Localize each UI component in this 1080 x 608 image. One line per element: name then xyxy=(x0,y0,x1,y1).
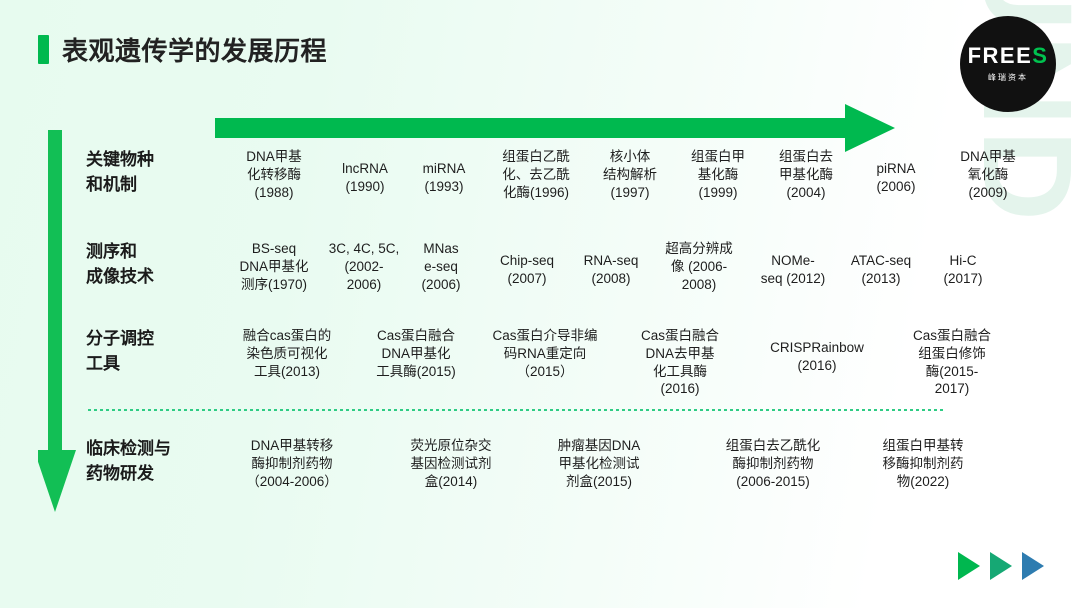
timeline-item: lncRNA (1990) xyxy=(326,148,404,196)
timeline-item: 组蛋白甲基转 移酶抑制剂药 物(2022) xyxy=(864,437,982,490)
row-cells: BS-seq DNA甲基化 测序(1970) 3C, 4C, 5C, (2002… xyxy=(226,240,1010,293)
frees-logo: FREES 峰瑞资本 xyxy=(960,16,1056,112)
timeline-item: 组蛋白去乙酰化 酶抑制剂药物 (2006-2015) xyxy=(710,437,836,490)
row-cells: DNA甲基 化转移酶 (1988) lncRNA (1990) miRNA (1… xyxy=(226,148,1034,201)
timeline-item: 荧光原位杂交 基因检测试剂 盒(2014) xyxy=(392,437,510,490)
timeline-item: DNA甲基 氧化酶 (2009) xyxy=(942,148,1034,201)
row-cells: DNA甲基转移 酶抑制剂药物 （2004-2006） 荧光原位杂交 基因检测试剂… xyxy=(226,437,1010,490)
timeline-item: CRISPRainbow (2016) xyxy=(752,327,882,375)
timeline-item: 3C, 4C, 5C, (2002- 2006) xyxy=(324,240,404,293)
timeline-item: Cas蛋白融合 DNA去甲基 化工具酶 (2016) xyxy=(628,327,732,398)
timeline-item: Cas蛋白融合 组蛋白修饰 酶(2015- 2017) xyxy=(900,327,1004,398)
row-cells: 融合cas蛋白的 染色质可视化 工具(2013) Cas蛋白融合 DNA甲基化 … xyxy=(226,327,1010,398)
play-triangle-icon xyxy=(958,552,980,580)
logo-word-free: FREE xyxy=(968,43,1033,68)
timeline-item: 核小体 结构解析 (1997) xyxy=(588,148,672,201)
timeline-item: MNas e-seq (2006) xyxy=(408,240,474,293)
title-accent-bar xyxy=(38,35,49,64)
timeline-row-sequencing-imaging: 测序和 成像技术 BS-seq DNA甲基化 测序(1970) 3C, 4C, … xyxy=(0,240,1010,293)
row-label: 临床检测与 药物研发 xyxy=(86,437,226,486)
row-label: 分子调控 工具 xyxy=(86,327,226,376)
slide-canvas: FREES FUND 表观遗传学的发展历程 FREES 峰瑞资本 关键物种 和机… xyxy=(0,0,1080,608)
timeline-item: ATAC-seq (2013) xyxy=(840,240,922,288)
logo-subtitle: 峰瑞资本 xyxy=(988,72,1028,83)
logo-wordmark: FREES xyxy=(968,45,1049,67)
play-triangle-icon xyxy=(1022,552,1044,580)
timeline-row-key-species: 关键物种 和机制 DNA甲基 化转移酶 (1988) lncRNA (1990)… xyxy=(0,148,1010,201)
decorative-triangles xyxy=(958,552,1044,580)
timeline-item: DNA甲基转移 酶抑制剂药物 （2004-2006） xyxy=(230,437,354,490)
timeline-item: miRNA (1993) xyxy=(408,148,480,196)
timeline-row-molecular-tools: 分子调控 工具 融合cas蛋白的 染色质可视化 工具(2013) Cas蛋白融合… xyxy=(0,327,1010,398)
timeline-item: BS-seq DNA甲基化 测序(1970) xyxy=(228,240,320,293)
timeline-item: RNA-seq (2008) xyxy=(572,240,650,288)
section-divider xyxy=(88,409,946,411)
timeline-item: piRNA (2006) xyxy=(860,148,932,196)
timeline-item: NOMe- seq (2012) xyxy=(750,240,836,288)
timeline-item: Hi-C (2017) xyxy=(932,240,994,288)
timeline-item: 超高分辨成 像 (2006- 2008) xyxy=(654,240,744,293)
title-text: 表观遗传学的发展历程 xyxy=(62,31,327,68)
page-title: 表观遗传学的发展历程 xyxy=(38,31,327,68)
timeline-item: Cas蛋白介导非编 码RNA重定向 （2015） xyxy=(484,327,606,380)
timeline-row-clinical-drug: 临床检测与 药物研发 DNA甲基转移 酶抑制剂药物 （2004-2006） 荧光… xyxy=(0,437,1010,490)
timeline-item: 融合cas蛋白的 染色质可视化 工具(2013) xyxy=(226,327,348,380)
row-label: 测序和 成像技术 xyxy=(86,240,226,289)
timeline-item: DNA甲基 化转移酶 (1988) xyxy=(228,148,320,201)
timeline-item: Chip-seq (2007) xyxy=(484,240,570,288)
timeline-item: 组蛋白去 甲基化酶 (2004) xyxy=(764,148,848,201)
play-triangle-icon xyxy=(990,552,1012,580)
timeline-item: Cas蛋白融合 DNA甲基化 工具酶(2015) xyxy=(362,327,470,380)
timeline-item: 组蛋白乙酰 化、去乙酰 化酶(1996) xyxy=(486,148,586,201)
row-label: 关键物种 和机制 xyxy=(86,148,226,197)
timeline-item: 肿瘤基因DNA 甲基化检测试 剂盒(2015) xyxy=(540,437,658,490)
timeline-item: 组蛋白甲 基化酶 (1999) xyxy=(676,148,760,201)
logo-word-s: S xyxy=(1032,43,1048,68)
